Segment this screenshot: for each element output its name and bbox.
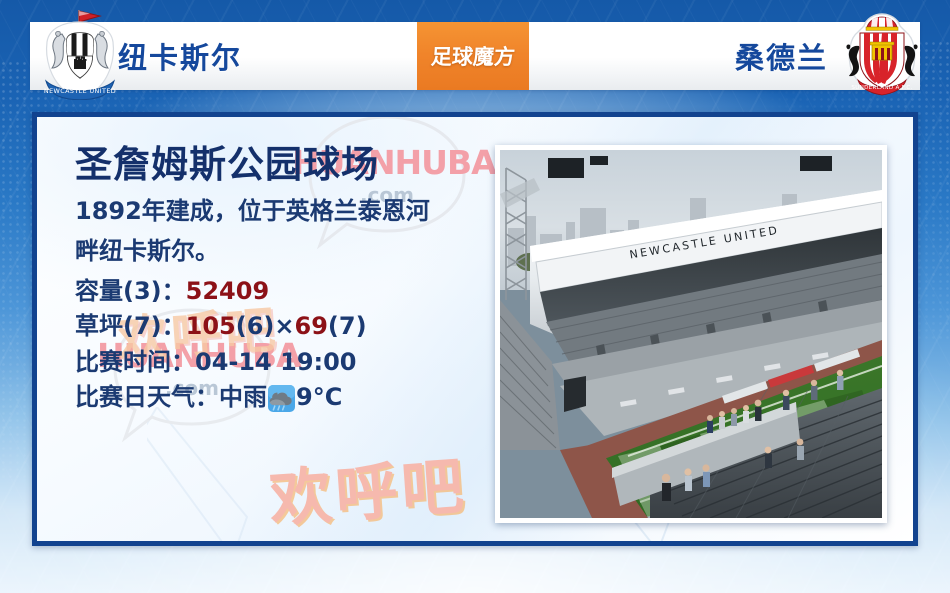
pitch-dimension-separator: × <box>274 309 294 345</box>
weather-label: 比赛日天气： <box>75 380 219 416</box>
stadium-name: 圣詹姆斯公园球场 <box>75 145 475 186</box>
pitch-width: 69 <box>295 309 328 345</box>
stadium-photo-illustration: NEWCASTLE UNITED <box>500 150 882 518</box>
away-team-name: 桑德兰 <box>735 35 828 77</box>
svg-text:SUNDERLAND A.F.C.: SUNDERLAND A.F.C. <box>851 85 912 91</box>
capacity-label: 容量(3)： <box>75 274 186 310</box>
rain-cloud-icon <box>268 385 295 412</box>
stadium-info-card: 纽卡斯尔 足球魔方 桑德兰 NEWCASTLE UNITED <box>0 0 950 593</box>
pitch-label: 草坪(7)： <box>75 309 186 345</box>
temperature-value: 9°C <box>296 380 342 416</box>
stadium-description-line-2: 畔纽卡斯尔。 <box>75 234 475 268</box>
svg-text:NEWCASTLE UNITED: NEWCASTLE UNITED <box>44 87 116 95</box>
stadium-photo[interactable]: NEWCASTLE UNITED <box>495 145 887 523</box>
pitch-row: 草坪(7)： 105 (6) × 69 (7) <box>75 309 475 345</box>
pitch-length: 105 <box>186 309 236 345</box>
match-time-label: 比赛时间： <box>75 345 195 381</box>
site-logo-label: 足球魔方 <box>430 41 516 71</box>
match-time-value: 04-14 19:00 <box>195 345 357 381</box>
newcastle-united-crest-icon: NEWCASTLE UNITED <box>38 8 122 100</box>
stadium-info-column: 圣詹姆斯公园球场 1892年建成，位于英格兰泰恩河 畔纽卡斯尔。 容量(3)： … <box>75 145 475 416</box>
stadium-photo-inner: NEWCASTLE UNITED <box>500 150 882 518</box>
match-header-bar: 纽卡斯尔 足球魔方 桑德兰 <box>30 22 920 90</box>
weather-row: 比赛日天气： 中雨 9°C <box>75 380 475 416</box>
stadium-detail-panel: HUANHUBA .com HUANHUBA .com 欢呼吧 欢呼吧 圣詹姆斯… <box>32 112 918 546</box>
pitch-length-rank: (6) <box>236 309 275 345</box>
capacity-value: 52409 <box>186 274 270 310</box>
capacity-row: 容量(3)： 52409 <box>75 274 475 310</box>
pitch-width-rank: (7) <box>328 309 367 345</box>
sunderland-crest-icon: SUNDERLAND A.F.C. <box>842 12 922 96</box>
home-team-name: 纽卡斯尔 <box>118 35 242 77</box>
stadium-description-line-1: 1892年建成，位于英格兰泰恩河 <box>75 194 475 228</box>
match-time-row: 比赛时间： 04-14 19:00 <box>75 345 475 381</box>
weather-condition: 中雨 <box>219 380 267 416</box>
site-logo[interactable]: 足球魔方 <box>417 22 529 90</box>
